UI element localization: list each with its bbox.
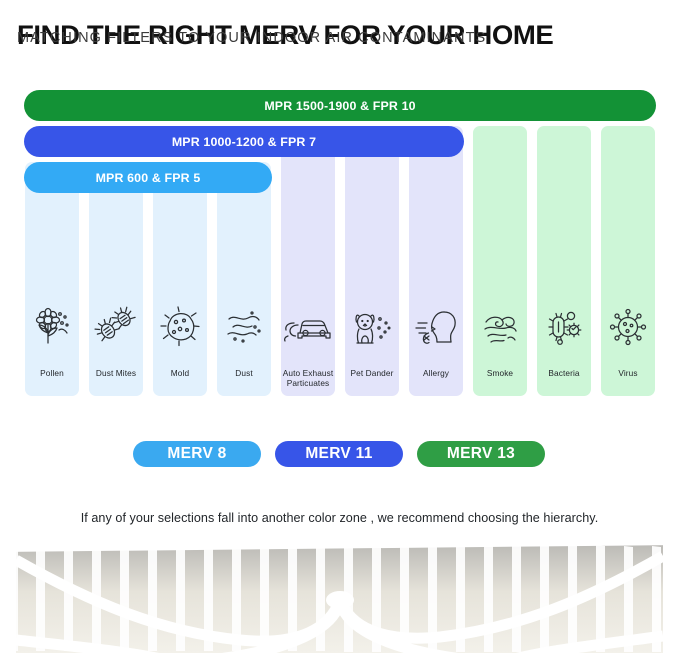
- bacteria-icon: [537, 300, 591, 352]
- mpr-rating-bar[interactable]: MPR 1500-1900 & FPR 10: [24, 90, 656, 121]
- contaminant-label: Allergy: [406, 368, 466, 378]
- contaminant-label: Dust: [214, 368, 274, 378]
- contaminant-column[interactable]: Pet Dander: [345, 126, 399, 396]
- contaminant-column[interactable]: Mold: [153, 162, 207, 396]
- contaminant-column[interactable]: Auto ExhaustParticuates: [281, 126, 335, 396]
- contaminant-label: Auto ExhaustParticuates: [278, 368, 338, 388]
- contaminant-column[interactable]: Dust: [217, 162, 271, 396]
- mpr-rating-bar[interactable]: MPR 1000-1200 & FPR 7: [24, 126, 464, 157]
- contaminant-label: Mold: [150, 368, 210, 378]
- contaminant-column[interactable]: Bacteria: [537, 126, 591, 396]
- sneeze-head-icon: [409, 300, 463, 352]
- contaminant-label: Bacteria: [534, 368, 594, 378]
- contaminant-label: Pet Dander: [342, 368, 402, 378]
- contaminant-label: Virus: [598, 368, 658, 378]
- merv-badge[interactable]: MERV 11: [275, 441, 403, 467]
- dust-swirl-icon: [217, 300, 271, 352]
- contaminant-column[interactable]: Virus: [601, 126, 655, 396]
- contaminant-column[interactable]: Dust Mites: [89, 162, 143, 396]
- pollen-flower-icon: [25, 300, 79, 352]
- mpr-rating-bar[interactable]: MPR 600 & FPR 5: [24, 162, 272, 193]
- merv-chart: Pollen Dust Mites Mold Dust: [0, 0, 679, 500]
- dust-mite-icon: [89, 300, 143, 352]
- contaminant-column[interactable]: Pollen: [25, 162, 79, 396]
- merv-legend: MERV 8MERV 11MERV 13: [0, 441, 679, 469]
- pet-dog-icon: [345, 300, 399, 352]
- hierarchy-note: If any of your selections fall into anot…: [0, 511, 679, 525]
- contaminant-column[interactable]: Smoke: [473, 126, 527, 396]
- virus-icon: [601, 300, 655, 352]
- mold-spore-icon: [153, 300, 207, 352]
- merv-badge[interactable]: MERV 8: [133, 441, 261, 467]
- infographic-page: FIND THE RIGHT MERV FOR YOUR HOME MATCHI…: [0, 0, 679, 653]
- contaminant-column[interactable]: Allergy: [409, 126, 463, 396]
- air-filter-photo: [0, 536, 679, 653]
- smoke-wisp-icon: [473, 300, 527, 352]
- car-exhaust-icon: [281, 300, 335, 352]
- contaminant-label: Pollen: [22, 368, 82, 378]
- contaminant-label: Dust Mites: [86, 368, 146, 378]
- merv-badge[interactable]: MERV 13: [417, 441, 545, 467]
- contaminant-label: Smoke: [470, 368, 530, 378]
